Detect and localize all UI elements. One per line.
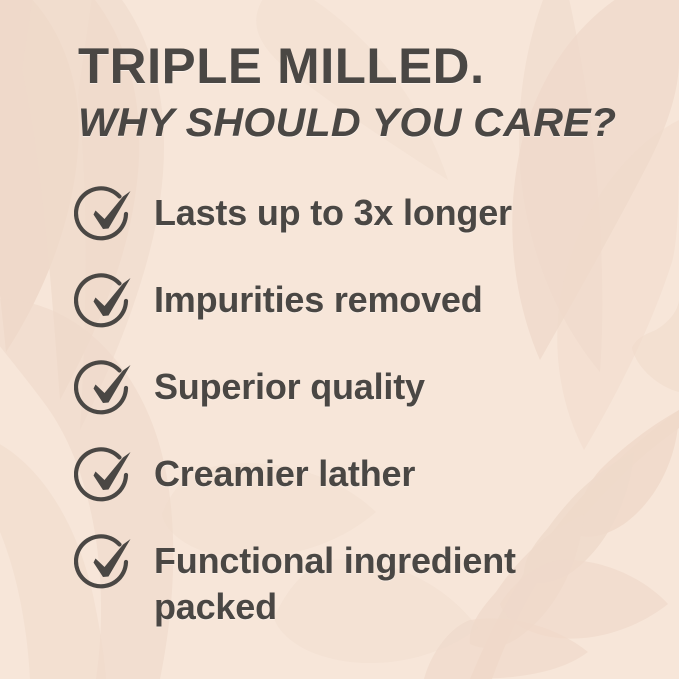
benefit-item: Creamier lather	[74, 447, 654, 507]
check-circle-icon	[74, 271, 140, 333]
benefit-label: Creamier lather	[154, 447, 415, 497]
benefit-label: Superior quality	[154, 360, 425, 410]
benefit-item: Superior quality	[74, 360, 654, 420]
check-circle-icon	[74, 184, 140, 246]
benefit-label: Lasts up to 3x longer	[154, 186, 512, 236]
headline-block: TRIPLE MILLED. WHY SHOULD YOU CARE?	[78, 40, 648, 145]
poster-content: TRIPLE MILLED. WHY SHOULD YOU CARE? Last…	[0, 0, 679, 679]
page-title: TRIPLE MILLED.	[78, 40, 659, 92]
check-circle-icon	[74, 358, 140, 420]
benefit-label: Functional ingredient packed	[154, 534, 584, 630]
benefit-label: Impurities removed	[154, 273, 483, 323]
benefits-list: Lasts up to 3x longer Impurities removed	[74, 186, 654, 630]
product-benefits-poster: TRIPLE MILLED. WHY SHOULD YOU CARE? Last…	[0, 0, 679, 679]
page-subtitle: WHY SHOULD YOU CARE?	[78, 101, 665, 145]
check-circle-icon	[74, 445, 140, 507]
benefit-item: Lasts up to 3x longer	[74, 186, 654, 246]
benefit-item: Impurities removed	[74, 273, 654, 333]
benefit-item: Functional ingredient packed	[74, 534, 654, 630]
check-circle-icon	[74, 532, 140, 594]
